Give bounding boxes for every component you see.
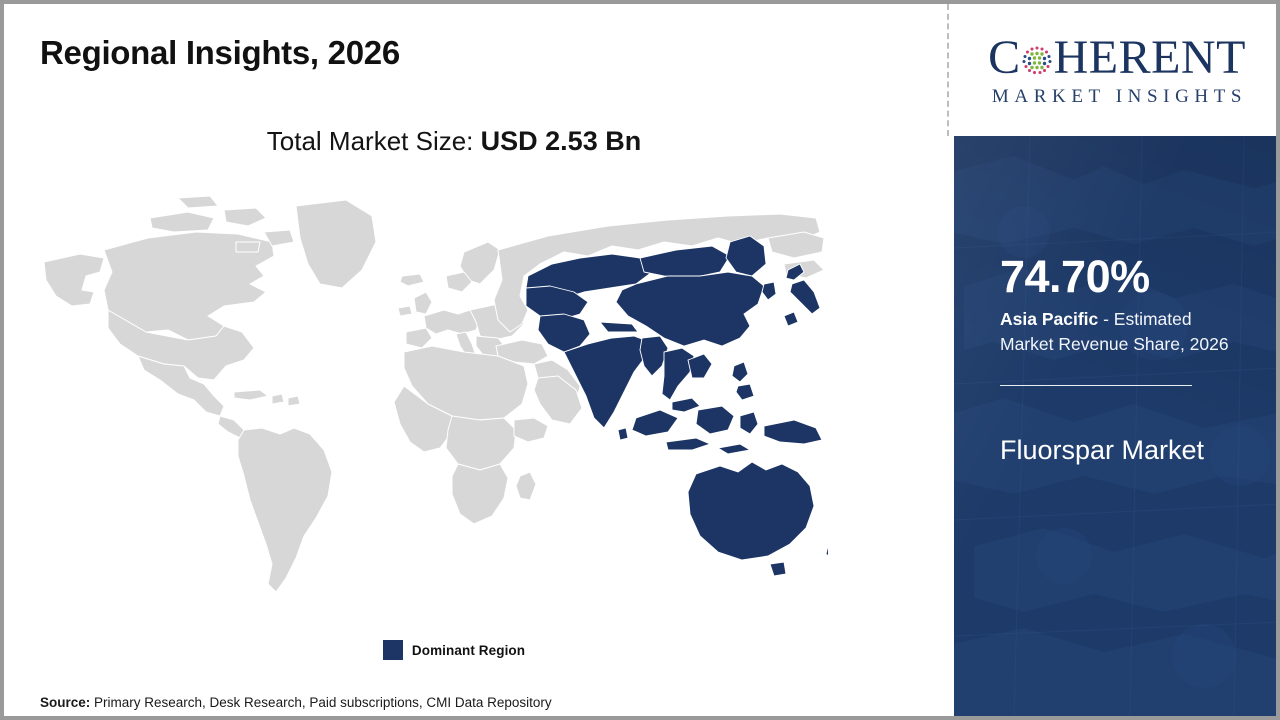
total-market-size-value: USD 2.53 Bn [481,126,642,156]
market-name: Fluorspar Market [1000,432,1220,469]
total-market-size-label: Total Market Size: [267,126,474,156]
main-content-pane: Regional Insights, 2026 Total Market Siz… [4,4,951,716]
page-title: Regional Insights, 2026 [40,34,400,72]
source-text: Primary Research, Desk Research, Paid su… [90,695,551,710]
vertical-dashed-divider [947,4,949,136]
logo-word-coherent: HERENT [1054,34,1246,82]
world-map[interactable] [28,180,828,616]
stat-panel-content: 74.70% Asia Pacific - Estimated Market R… [954,136,1280,469]
logo-letter-c: C [988,34,1021,82]
globe-dots-icon [1021,44,1053,76]
legend-swatch-dominant-region [383,640,403,660]
stat-divider-rule [1000,385,1192,386]
stat-panel: 74.70% Asia Pacific - Estimated Market R… [954,136,1280,716]
logo-wordmark: C [988,32,1246,84]
total-market-size: Total Market Size: USD 2.53 Bn [4,126,904,157]
source-note: Source: Primary Research, Desk Research,… [40,695,552,710]
company-logo[interactable]: C [954,4,1280,136]
logo-tagline: MARKET INSIGHTS [987,86,1247,108]
world-map-svg [28,180,828,616]
legend-label-dominant-region: Dominant Region [412,643,525,658]
map-legend: Dominant Region [4,640,904,660]
stat-description: Asia Pacific - Estimated Market Revenue … [1000,307,1238,358]
regional-insights-infographic: Regional Insights, 2026 Total Market Siz… [0,0,1280,720]
stat-region-name: Asia Pacific [1000,309,1098,329]
source-label: Source: [40,695,90,710]
stat-percent-value: 74.70% [1000,254,1246,299]
